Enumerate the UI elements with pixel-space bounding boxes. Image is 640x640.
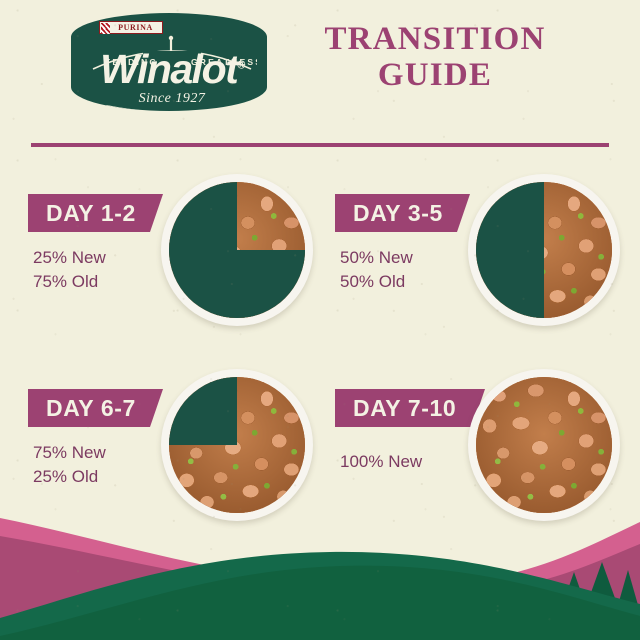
page-title: TRANSITION GUIDE [290,22,580,93]
page-title-line-2: GUIDE [290,58,580,94]
swoosh-divider-icon [105,105,239,114]
bowl-day-1-2 [161,174,313,326]
registered-mark: ® [237,59,244,71]
new-food-percent-3: 75% New [33,441,106,465]
day-badge-4: DAY 7-10 [335,389,485,427]
mix-ratio-2: 50% New 50% Old [340,246,413,294]
mix-ratio-1: 25% New 75% Old [33,246,106,294]
winalot-name: Winalot [100,46,237,92]
mix-ratio-4: 100% New [340,450,422,474]
bowl-inner-1 [169,182,305,318]
bowl-inner-3 [169,377,305,513]
landscape-footer-illustration [0,500,640,640]
old-food-percent-2: 50% Old [340,270,413,294]
old-food-percent-1: 75% Old [33,270,106,294]
winalot-wordmark: Winalot® [71,49,270,90]
new-food-percent-4: 100% New [340,450,422,474]
new-food-photo-4 [476,377,612,513]
bowl-day-3-5 [468,174,620,326]
mix-ratio-3: 75% New 25% Old [33,441,106,489]
bowl-day-7-10 [468,369,620,521]
transition-step-day-1-2: DAY 1-2 25% New 75% Old [18,172,318,342]
day-badge-1: DAY 1-2 [28,194,163,232]
bowl-inner-2 [476,182,612,318]
purina-checkerboard-icon [101,23,110,34]
day-badge-2: DAY 3-5 [335,194,470,232]
page-title-line-1: TRANSITION [290,22,580,58]
new-food-percent-1: 25% New [33,246,106,270]
transition-steps-grid: DAY 1-2 25% New 75% Old DAY 3-5 50% New … [0,160,640,510]
day-badge-3: DAY 6-7 [28,389,163,427]
transition-step-day-3-5: DAY 3-5 50% New 50% Old [325,172,625,342]
old-food-percent-3: 25% Old [33,465,106,489]
purina-logo: PURINA [99,21,163,34]
winalot-brand-logo: PURINA FEEDING GREATNESS Winalot® Since … [68,10,270,114]
purina-wordmark: PURINA [109,23,153,32]
header-divider-rule [31,143,609,147]
new-food-percent-2: 50% New [340,246,413,270]
bowl-day-6-7 [161,369,313,521]
bowl-inner-4 [476,377,612,513]
header: PURINA FEEDING GREATNESS Winalot® Since … [0,0,640,130]
